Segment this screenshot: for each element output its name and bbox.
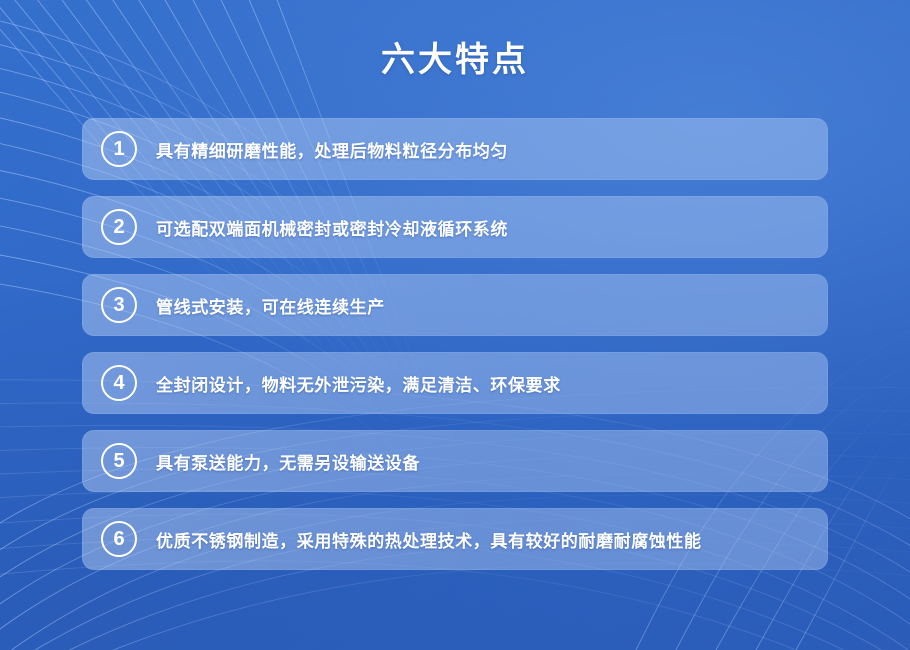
page-title: 六大特点 [0, 40, 910, 81]
feature-row-5[interactable]: 5 具有泵送能力，无需另设输送设备 [82, 430, 828, 492]
feature-number-badge: 4 [101, 365, 137, 401]
feature-row-2[interactable]: 2 可选配双端面机械密封或密封冷却液循环系统 [82, 196, 828, 258]
feature-number-badge: 5 [101, 443, 137, 479]
feature-text: 管线式安装，可在线连续生产 [156, 293, 385, 318]
feature-text: 全封闭设计，物料无外泄污染，满足清洁、环保要求 [156, 371, 561, 396]
feature-row-1[interactable]: 1 具有精细研磨性能，处理后物料粒径分布均匀 [82, 118, 828, 180]
feature-row-6[interactable]: 6 优质不锈钢制造，采用特殊的热处理技术，具有较好的耐磨耐腐蚀性能 [82, 508, 828, 570]
feature-text: 具有泵送能力，无需另设输送设备 [156, 449, 420, 474]
feature-text: 优质不锈钢制造，采用特殊的热处理技术，具有较好的耐磨耐腐蚀性能 [156, 527, 702, 552]
feature-text: 可选配双端面机械密封或密封冷却液循环系统 [156, 215, 508, 240]
feature-number-badge: 6 [101, 521, 137, 557]
feature-number-badge: 1 [101, 131, 137, 167]
feature-text: 具有精细研磨性能，处理后物料粒径分布均匀 [156, 137, 508, 162]
feature-highlight-page: 六大特点 1 具有精细研磨性能，处理后物料粒径分布均匀 2 可选配双端面机械密封… [0, 0, 910, 650]
feature-number-badge: 2 [101, 209, 137, 245]
feature-number-badge: 3 [101, 287, 137, 323]
feature-list: 1 具有精细研磨性能，处理后物料粒径分布均匀 2 可选配双端面机械密封或密封冷却… [82, 118, 828, 586]
feature-row-3[interactable]: 3 管线式安装，可在线连续生产 [82, 274, 828, 336]
feature-row-4[interactable]: 4 全封闭设计，物料无外泄污染，满足清洁、环保要求 [82, 352, 828, 414]
